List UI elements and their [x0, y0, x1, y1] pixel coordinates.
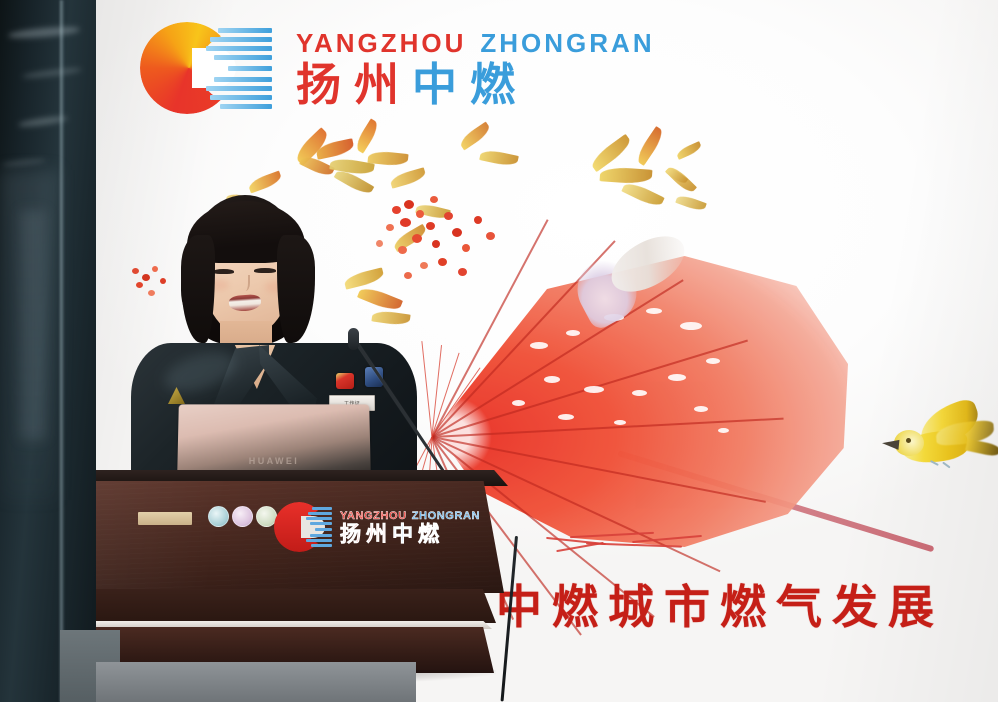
- podium-brand-text: YANGZHOU ZHONGRAN 扬 州 中 燃: [340, 510, 480, 545]
- brand-cn-zhou: 州: [354, 62, 399, 107]
- speaker-sidelock: [277, 235, 315, 343]
- brand-cn-ran: 燃: [470, 62, 515, 107]
- floor-strip: [96, 662, 416, 702]
- backdrop-brand-lockup: YANGZHOU ZHONGRAN 扬 州 中 燃: [140, 12, 670, 122]
- podium-latin-zhongran: ZHONGRAN: [412, 510, 480, 522]
- dark-wall-column: [0, 0, 96, 702]
- brand-cn-zhong: 中: [412, 62, 457, 107]
- podium-logo-icon: [274, 502, 332, 552]
- speaker-eye: [254, 268, 276, 273]
- speaker-sidelock: [181, 235, 215, 343]
- podium-sticker-purple: [232, 506, 253, 527]
- yangzhou-zhongran-logo-icon: [140, 18, 272, 116]
- microphone-capsule-icon: [348, 328, 359, 350]
- brand-wordmark: YANGZHOU ZHONGRAN 扬 州 中 燃: [296, 28, 655, 107]
- podium-cn-ran: 燃: [418, 524, 439, 545]
- podium-brand-emblem: YANGZHOU ZHONGRAN 扬 州 中 燃: [274, 496, 470, 558]
- laptop-brand-text: HUAWEI: [178, 456, 370, 466]
- podium-cn-zhong: 中: [392, 524, 413, 545]
- brand-latin-zhongran: ZHONGRAN: [480, 28, 654, 59]
- podium-chinese-line: 扬 州 中 燃: [340, 524, 480, 545]
- podium-latin-yangzhou: YANGZHOU: [340, 510, 407, 522]
- speaker-eye: [213, 269, 234, 274]
- podium-mid-band: [58, 589, 496, 623]
- brand-chinese-line: 扬 州 中 燃: [296, 62, 655, 107]
- brand-cn-yang: 扬: [296, 62, 341, 107]
- speaker-nose: [241, 275, 250, 291]
- podium-sticker-blue: [208, 506, 229, 527]
- brand-latin-yangzhou: YANGZHOU: [296, 28, 466, 59]
- wall-edge-highlight: [60, 0, 64, 702]
- podium-cn-yang: 扬: [340, 524, 361, 545]
- podium-cn-zhou: 州: [366, 524, 387, 545]
- podium-latin-line: YANGZHOU ZHONGRAN: [340, 510, 480, 522]
- screenshot-root: YANGZHOU ZHONGRAN 扬 州 中 燃 州中燃城市燃气发展: [0, 0, 998, 702]
- brand-latin-line: YANGZHOU ZHONGRAN: [296, 28, 655, 59]
- podium-brass-plate: [138, 512, 192, 525]
